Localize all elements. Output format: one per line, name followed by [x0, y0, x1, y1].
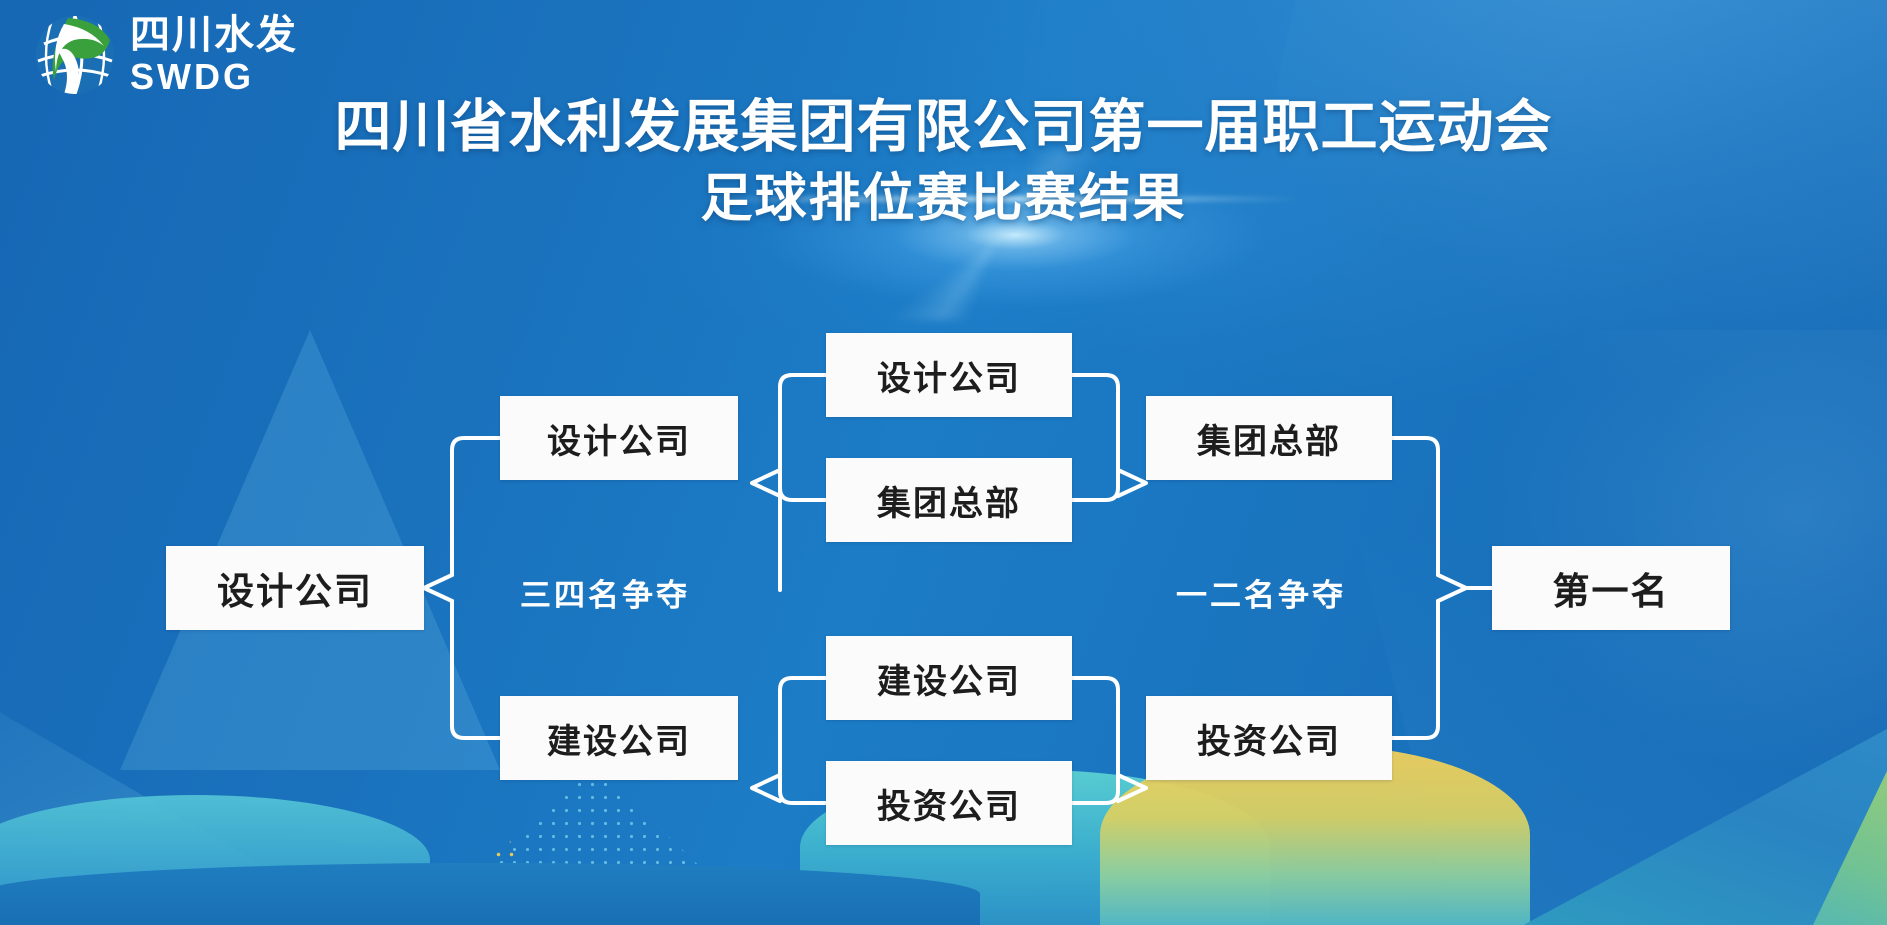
bracket-node-final-team1[interactable]: 集团总部 [1146, 396, 1392, 480]
stage-label-first-second: 一二名争夺 [1176, 570, 1346, 615]
node-label: 集团总部 [1197, 414, 1341, 463]
node-label: 建设公司 [547, 714, 691, 763]
bracket-node-match-a-team1[interactable]: 设计公司 [826, 333, 1072, 417]
bracket-node-semi-left-bottom[interactable]: 建设公司 [500, 696, 738, 780]
bracket-node-champion[interactable]: 第一名 [1492, 546, 1730, 630]
node-label: 第一名 [1553, 561, 1670, 615]
bracket-node-match-b-team2[interactable]: 投资公司 [826, 761, 1072, 845]
node-label: 设计公司 [547, 414, 691, 463]
node-label: 建设公司 [877, 654, 1021, 703]
node-label: 投资公司 [1197, 714, 1341, 763]
tournament-bracket: 设计公司 设计公司 建设公司 设计公司 集团总部 建设公司 投资公司 集团总部 … [0, 0, 1887, 925]
node-label: 设计公司 [877, 351, 1021, 400]
node-label: 投资公司 [877, 779, 1021, 828]
bracket-node-final-team2[interactable]: 投资公司 [1146, 696, 1392, 780]
bracket-node-match-b-team1[interactable]: 建设公司 [826, 636, 1072, 720]
node-label: 设计公司 [217, 561, 373, 615]
bracket-node-match-a-team2[interactable]: 集团总部 [826, 458, 1072, 542]
bracket-node-third-place-result[interactable]: 设计公司 [166, 546, 424, 630]
node-label: 集团总部 [877, 476, 1021, 525]
poster-canvas: 四川水发 SWDG 四川省水利发展集团有限公司第一届职工运动会 足球排位赛比赛结… [0, 0, 1887, 925]
bracket-node-semi-left-top[interactable]: 设计公司 [500, 396, 738, 480]
stage-label-third-fourth: 三四名争夺 [520, 570, 690, 615]
